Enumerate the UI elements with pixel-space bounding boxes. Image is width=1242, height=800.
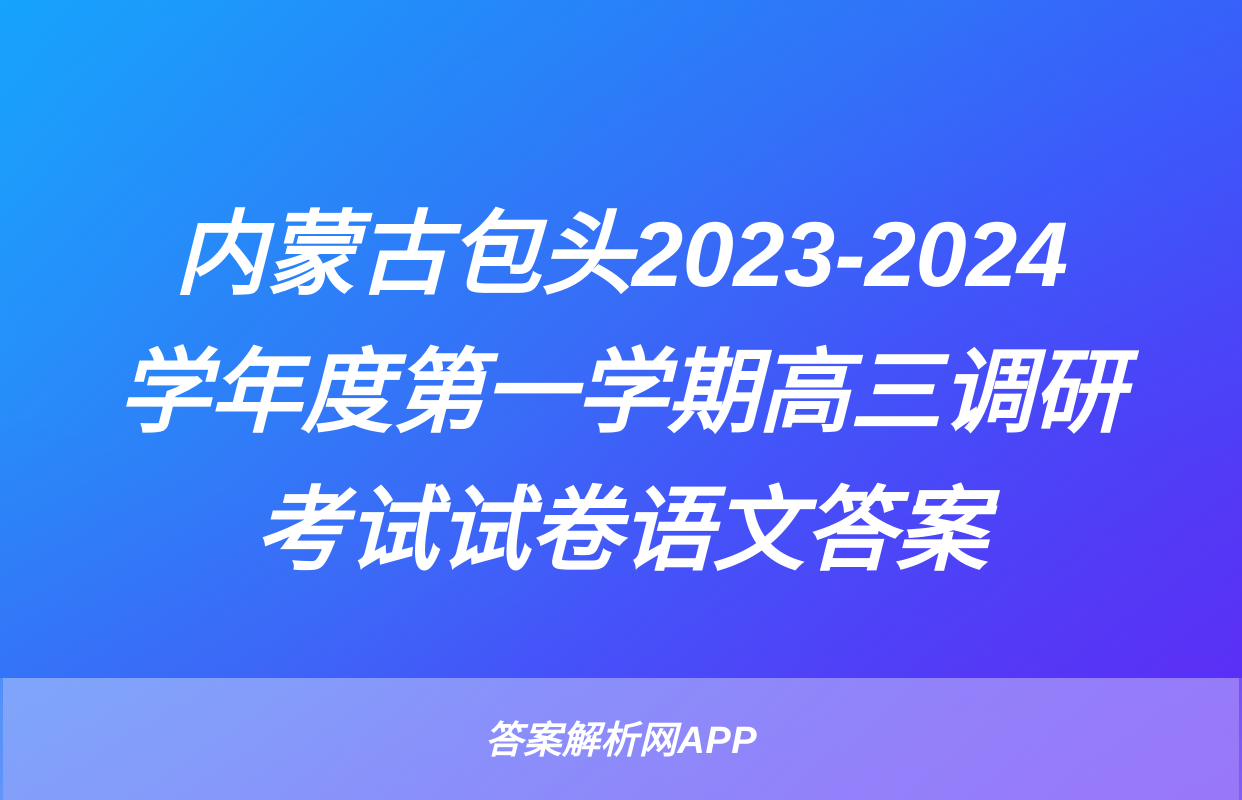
footer-brand-label: 答案解析网APP [485, 719, 757, 763]
footer-brand-band: 答案解析网APP [0, 678, 1242, 800]
footer-left-edge [0, 678, 3, 800]
page-title: 内蒙古包头2023-2024 学年度第一学期高三调研 考试试卷语文答案 [0, 186, 1242, 600]
title-line-2: 学年度第一学期高三调研 [28, 324, 1214, 462]
banner-image: 内蒙古包头2023-2024 学年度第一学期高三调研 考试试卷语文答案 答案解析… [0, 0, 1242, 800]
title-line-1: 内蒙古包头2023-2024 [28, 186, 1214, 324]
title-line-3: 考试试卷语文答案 [28, 462, 1214, 600]
